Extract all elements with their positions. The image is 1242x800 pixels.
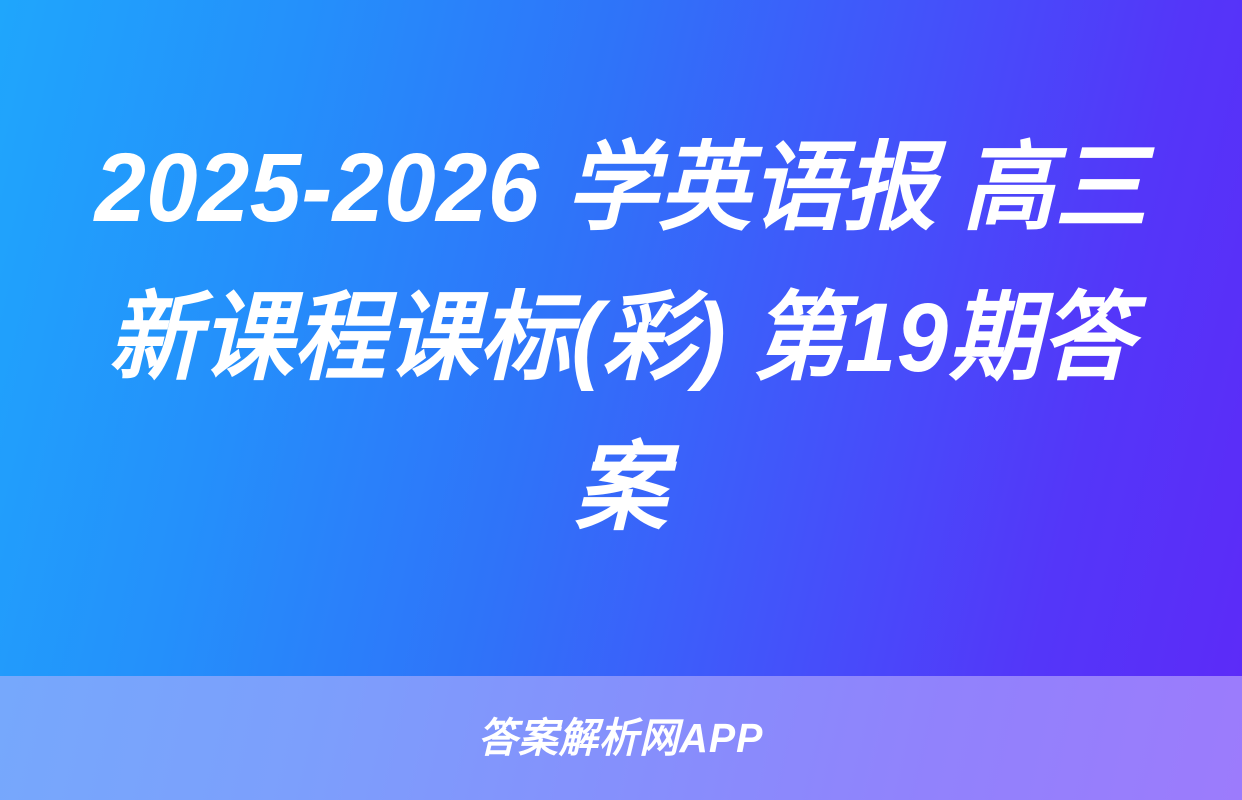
hero-gradient-panel: 2025-2026 学英语报 高三新课程课标(彩) 第19期答案 [0, 0, 1242, 676]
answer-poster-card: 2025-2026 学英语报 高三新课程课标(彩) 第19期答案 答案解析网AP… [0, 0, 1242, 800]
app-brand-label: 答案解析网APP [478, 718, 763, 759]
page-title: 2025-2026 学英语报 高三新课程课标(彩) 第19期答案 [73, 113, 1169, 563]
app-promo-banner[interactable]: 答案解析网APP [0, 676, 1242, 800]
